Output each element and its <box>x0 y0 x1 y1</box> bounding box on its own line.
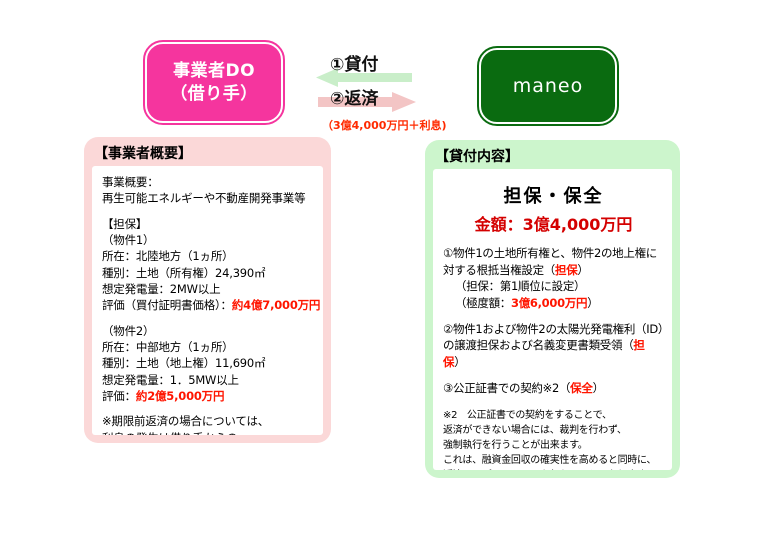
line-text: 【担保】 <box>102 217 147 231</box>
overview-line: 再生可能エネルギーや不動産開発事業等 <box>102 190 315 206</box>
line-text: （物件2） <box>102 324 154 338</box>
overview-line: 評価（買付証明書価格）：約4億7,000万円 <box>102 297 315 313</box>
collateral-item-line: 対する根抵当権設定（担保） <box>443 262 664 279</box>
collateral-headline: 担保・保全 <box>443 182 664 208</box>
repay-amount-note: （3億4,000万円＋利息) <box>322 117 446 133</box>
line-text: ①物件1の土地所有権と、物件2の地上権に <box>443 246 657 260</box>
line-text: 想定発電量：2MW以上 <box>102 282 220 296</box>
loan-details-card: 担保・保全 金額：3億4,000万円 ①物件1の土地所有権と、物件2の地上権に対… <box>433 169 672 470</box>
loan-details-panel: 【貸付内容】 担保・保全 金額：3億4,000万円 ①物件1の土地所有権と、物件… <box>425 140 680 478</box>
highlight-value: 約2億5,000万円 <box>136 389 224 403</box>
overview-line: 事業概要： <box>102 174 315 190</box>
line-text: （極度額： <box>455 296 511 310</box>
line-text: ※期限前返済の場合については、 <box>102 414 269 428</box>
overview-line: 利息の発生は借り手からの <box>102 430 315 435</box>
lend-arrow-label: ①貸付 <box>330 50 378 75</box>
line-text: 再生可能エネルギーや不動産開発事業等 <box>102 191 305 205</box>
borrower-overview-title: 【事業者概要】 <box>94 143 192 163</box>
overview-line: 種別：土地（地上権）11,690㎡ <box>102 355 315 371</box>
diagram-canvas: 事業者DO （借り手） maneo ①貸付 ②返済 （3億4,000万円＋利息)… <box>0 0 780 550</box>
highlight-tag: 3億6,000万円 <box>511 296 587 310</box>
overview-line: 【担保】 <box>102 216 315 232</box>
overview-line: 所在：中部地方（1ヵ所） <box>102 339 315 355</box>
line-text: 種別：土地（地上権）11,690㎡ <box>102 356 265 370</box>
highlight-tag: 保全 <box>570 381 592 395</box>
overview-line: 種別：土地（所有権）24,390㎡ <box>102 265 315 281</box>
footnote-line: これは、融資金回収の確実性を高めると同時に、 <box>443 453 664 468</box>
collateral-item-line: （担保：第1順位に設定） <box>443 278 664 295</box>
highlight-value: 約4億7,000万円 <box>232 298 320 312</box>
line-text: 評価（買付証明書価格）： <box>102 298 232 312</box>
repay-arrow-label: ②返済 <box>330 84 378 109</box>
line-text: 評価： <box>102 389 136 403</box>
footnote-line: 返済ができない場合には、裁判を行わず、 <box>443 423 664 438</box>
overview-line: （物件2） <box>102 323 315 339</box>
line-text: ③公正証書での契約※2（ <box>443 381 570 395</box>
borrower-role: （借り手） <box>170 83 258 106</box>
borrower-overview-card: 事業概要：再生可能エネルギーや不動産開発事業等【担保】（物件1）所在：北陸地方（… <box>92 166 323 435</box>
footnote-line: 強制執行を行うことが出来ます。 <box>443 438 664 453</box>
collateral-item-line: ①物件1の土地所有権と、物件2の地上権に <box>443 245 664 262</box>
loan-details-title: 【貸付内容】 <box>435 146 519 166</box>
borrower-box: 事業者DO （借り手） <box>145 42 283 123</box>
line-text-tail: ） <box>577 263 588 277</box>
collateral-item-line: ③公正証書での契約※2（保全） <box>443 380 664 397</box>
line-text-tail: ） <box>593 381 604 395</box>
borrower-name: 事業者DO <box>170 60 258 83</box>
footnote-line: 返済へのプレッシャーを与えることになります。 <box>443 468 664 470</box>
line-text: （担保：第1順位に設定） <box>455 279 585 293</box>
loan-amount: 金額：3億4,000万円 <box>443 211 664 235</box>
line-text: 所在：中部地方（1ヵ所） <box>102 340 233 354</box>
line-text: 事業概要： <box>102 175 159 189</box>
line-text: 所在：北陸地方（1ヵ所） <box>102 249 233 263</box>
overview-line: 想定発電量：2MW以上 <box>102 281 315 297</box>
text-spacer <box>443 312 664 321</box>
highlight-tag: 担保 <box>555 263 577 277</box>
lender-name: maneo <box>513 75 584 97</box>
collateral-item-list: ①物件1の土地所有権と、物件2の地上権に対する根抵当権設定（担保）（担保：第1順… <box>443 245 664 396</box>
footnote-line: ※2 公正証書での契約をすることで、 <box>443 408 664 423</box>
line-text-tail: ） <box>587 296 598 310</box>
collateral-item-line: （極度額：3億6,000万円） <box>443 295 664 312</box>
overview-line: 所在：北陸地方（1ヵ所） <box>102 248 315 264</box>
borrower-overview-panel: 【事業者概要】 事業概要：再生可能エネルギーや不動産開発事業等【担保】（物件1）… <box>84 137 331 443</box>
overview-line: ※期限前返済の場合については、 <box>102 413 315 429</box>
line-text: 想定発電量：1．5MW以上 <box>102 373 239 387</box>
line-text: ②物件1および物件2の太陽光発電権利（ID） <box>443 322 669 336</box>
overview-line: （物件1） <box>102 232 315 248</box>
overview-line: 評価：約2億5,000万円 <box>102 388 315 404</box>
line-text: 種別：土地（所有権）24,390㎡ <box>102 266 265 280</box>
overview-line: 想定発電量：1．5MW以上 <box>102 372 315 388</box>
text-spacer <box>102 314 315 323</box>
footnote-block: ※2 公正証書での契約をすることで、返済ができない場合には、裁判を行わず、強制執… <box>443 408 664 470</box>
lender-box: maneo <box>479 48 617 124</box>
collateral-item-line: ②物件1および物件2の太陽光発電権利（ID） <box>443 321 664 338</box>
line-text: （物件1） <box>102 233 154 247</box>
text-spacer <box>443 371 664 380</box>
line-text: 利息の発生は借り手からの <box>102 431 238 435</box>
line-text-tail: ） <box>454 355 465 369</box>
line-text: の譲渡担保および名義変更書類受領（ <box>443 338 633 352</box>
line-text: 対する根抵当権設定（ <box>443 263 555 277</box>
text-spacer <box>102 207 315 216</box>
text-spacer <box>102 404 315 413</box>
collateral-item-line: の譲渡担保および名義変更書類受領（担保） <box>443 337 664 370</box>
